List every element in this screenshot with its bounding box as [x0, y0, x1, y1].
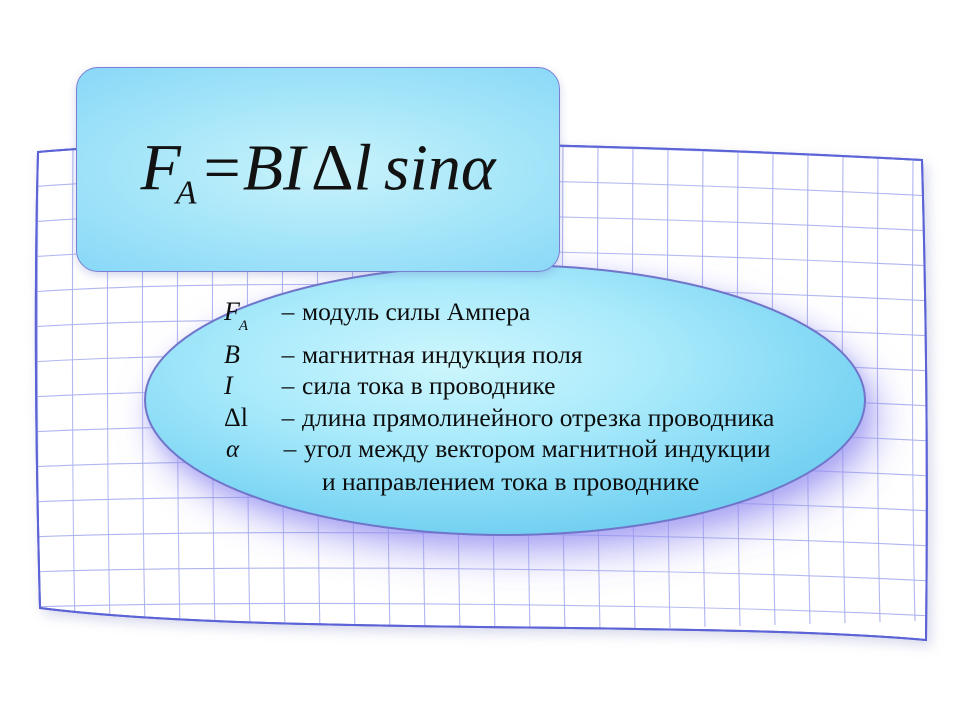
definition-symbol-alpha: α — [224, 434, 280, 466]
definition-row-alpha-continuation: x – и направлением тока в проводнике — [224, 466, 884, 498]
definition-dash: – — [278, 402, 298, 434]
definition-text-alpha: угол между вектором магнитной индукции — [300, 433, 771, 465]
slide-canvas: FA=BIΔlsinα FA – модуль силы Ампера B – … — [0, 0, 960, 720]
definition-dash: – — [278, 296, 298, 328]
formula-equals: = — [202, 131, 243, 204]
definition-text-b: магнитная индукция поля — [298, 339, 583, 371]
definition-row-fa: FA – модуль силы Ампера — [224, 296, 884, 339]
definition-symbol-fa: FA — [224, 296, 278, 339]
formula-lhs-subscript: A — [176, 174, 197, 211]
definition-dash: – — [280, 433, 300, 465]
definition-list: FA – модуль силы Ампера B – магнитная ин… — [224, 296, 884, 497]
definition-row-alpha: α – угол между вектором магнитной индукц… — [224, 433, 884, 466]
formula-lhs-symbol: F — [140, 131, 180, 204]
definition-symbol-delta-l: Δl — [224, 402, 278, 434]
definition-symbol-b: B — [224, 339, 278, 371]
formula-delta: Δ — [305, 131, 353, 204]
definition-dash: – — [278, 339, 298, 371]
definition-symbol-i: I — [224, 370, 278, 402]
definition-row-delta-l: Δl – длина прямолинейного отрезка провод… — [224, 402, 884, 434]
formula-trig: sinα — [384, 131, 496, 204]
definition-text-i: сила тока в проводнике — [298, 370, 555, 402]
formula-box: FA=BIΔlsinα — [76, 67, 560, 272]
definition-text-delta-l: длина прямолинейного отрезка проводника — [298, 402, 774, 434]
formula-rhs-bi: BI — [243, 131, 305, 204]
definition-dash: – — [278, 370, 298, 402]
formula-ell: l — [354, 131, 372, 204]
definition-text-fa: модуль силы Ампера — [298, 296, 530, 328]
definition-row-b: B – магнитная индукция поля — [224, 339, 884, 371]
definition-row-i: I – сила тока в проводнике — [224, 370, 884, 402]
formula-text: FA=BIΔlsinα — [77, 130, 559, 206]
definition-text-alpha-continuation: и направлением тока в проводнике — [298, 466, 699, 498]
